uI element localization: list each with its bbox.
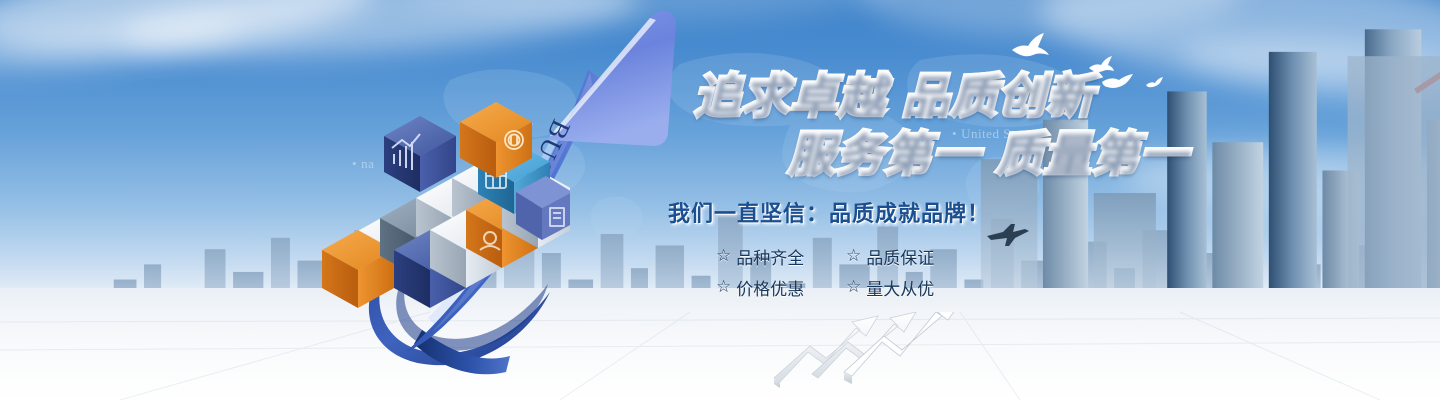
feature-item: ☆ 品质保证 [846,244,970,269]
headline-line-1: 追求卓越品质创新 [660,72,1200,120]
headline-1-seg-1: 追求 [694,69,790,124]
copy-block: 追求卓越品质创新 服务第一质量第一 我们一直坚信：品质成就品牌！ ☆ 品种齐全 … [660,72,1200,300]
growth-arrows [760,312,1010,392]
headline-2-seg-2: 第一 [884,127,980,182]
cube-cell-chart [384,116,456,192]
promo-banner: Europe United States na [0,0,1440,400]
headline-1-seg-3: 品质 [902,69,998,124]
headline-line-2: 服务第一质量第一 [660,130,1200,178]
feature-label: 品质保证 [866,244,934,269]
headline-2-seg-1: 服务 [788,127,884,182]
feature-item: ☆ 量大从优 [846,275,970,300]
star-icon: ☆ [846,279,861,296]
cloud-shape [0,2,242,84]
star-icon: ☆ [846,248,861,265]
feature-label: 品种齐全 [736,244,804,269]
feature-item: ☆ 品种齐全 [716,244,840,269]
headline-1-seg-4: 创新 [998,69,1094,124]
feature-list: ☆ 品种齐全 ☆ 品质保证 ☆ 价格优惠 ☆ 量大从优 [716,244,1200,300]
star-icon: ☆ [716,279,731,296]
headline-2-seg-3: 质量 [996,127,1092,182]
headline-1-seg-2: 卓越 [790,69,886,124]
subtitle: 我们一直坚信：品质成就品牌！ [668,196,1200,228]
feature-label: 量大从优 [866,275,934,300]
feature-item: ☆ 价格优惠 [716,275,840,300]
growth-arrow-back [774,316,878,388]
headline-2-seg-4: 第一 [1092,127,1188,182]
star-icon: ☆ [716,248,731,265]
rubiks-cube [320,100,570,315]
feature-label: 价格优惠 [736,275,804,300]
